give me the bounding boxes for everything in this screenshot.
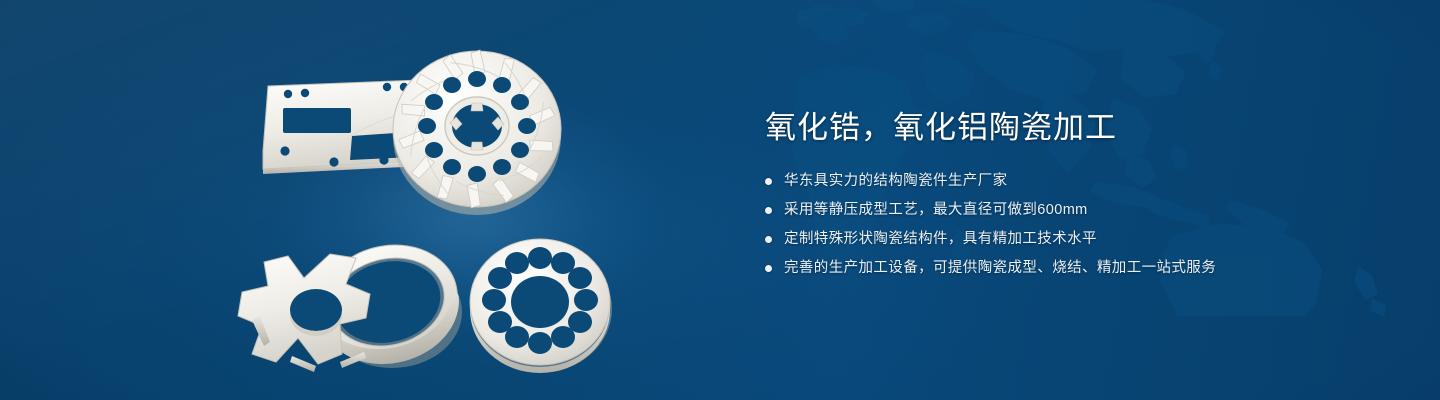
ceramic-parts-photo: [200, 24, 720, 384]
bullet-dot-icon: [765, 236, 772, 243]
banner-copy: 氧化锆，氧化铝陶瓷加工 华东具实力的结构陶瓷件生产厂家 采用等静压成型工艺，最大…: [765, 108, 1385, 286]
ceramic-valve-plate: [470, 239, 612, 373]
feature-text: 采用等静压成型工艺，最大直径可做到600mm: [784, 199, 1088, 221]
ceramic-impeller-disc: [393, 46, 561, 215]
feature-list: 华东具实力的结构陶瓷件生产厂家 采用等静压成型工艺，最大直径可做到600mm 定…: [765, 170, 1385, 279]
list-item: 定制特殊形状陶瓷结构件，具有精加工技术水平: [765, 228, 1385, 250]
list-item: 采用等静压成型工艺，最大直径可做到600mm: [765, 199, 1385, 221]
bullet-dot-icon: [765, 265, 772, 272]
hero-banner: 氧化锆，氧化铝陶瓷加工 华东具实力的结构陶瓷件生产厂家 采用等静压成型工艺，最大…: [0, 0, 1440, 400]
feature-text: 完善的生产加工设备，可提供陶瓷成型、烧结、精加工一站式服务: [784, 257, 1216, 279]
feature-text: 定制特殊形状陶瓷结构件，具有精加工技术水平: [784, 228, 1097, 250]
feature-text: 华东具实力的结构陶瓷件生产厂家: [784, 170, 1008, 192]
bullet-dot-icon: [765, 207, 772, 214]
list-item: 华东具实力的结构陶瓷件生产厂家: [765, 170, 1385, 192]
page-title: 氧化锆，氧化铝陶瓷加工: [765, 108, 1385, 148]
bullet-dot-icon: [765, 178, 772, 185]
list-item: 完善的生产加工设备，可提供陶瓷成型、烧结、精加工一站式服务: [765, 257, 1385, 279]
